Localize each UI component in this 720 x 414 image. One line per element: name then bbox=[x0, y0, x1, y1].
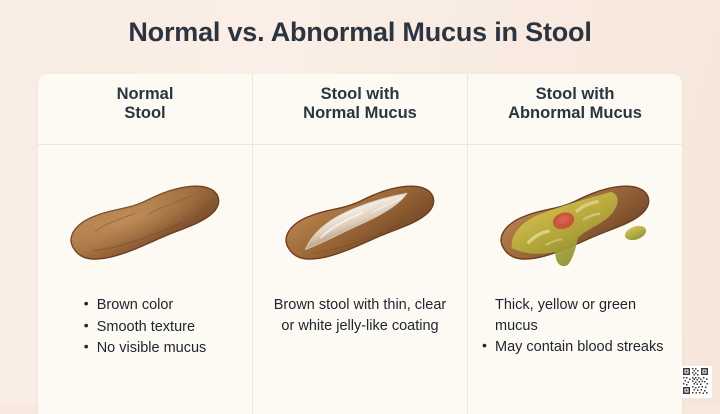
description-abnormal-mucus: Thick, yellow or green mucus May contain… bbox=[468, 295, 682, 359]
list-item: Thick, yellow or green mucus bbox=[482, 295, 668, 336]
column-header-line1: Stool with bbox=[468, 85, 682, 104]
column-header-line1: Stool with bbox=[253, 85, 467, 104]
illustration-normal-stool bbox=[38, 145, 252, 295]
qr-code-icon bbox=[682, 367, 709, 395]
comparison-card: Normal Stool bbox=[38, 74, 682, 414]
illustration-abnormal-mucus bbox=[468, 145, 682, 295]
column-header-line2: Abnormal Mucus bbox=[468, 104, 682, 123]
list-item: Smooth texture bbox=[84, 317, 207, 338]
brown-stool-illustration bbox=[50, 160, 240, 280]
column-header-normal-stool: Normal Stool bbox=[38, 74, 252, 145]
comparison-columns: Normal Stool bbox=[38, 74, 682, 414]
list-item: May contain blood streaks bbox=[482, 337, 668, 358]
column-header-normal-mucus: Stool with Normal Mucus bbox=[253, 74, 467, 145]
column-header-abnormal-mucus: Stool with Abnormal Mucus bbox=[468, 74, 682, 145]
list-item: No visible mucus bbox=[84, 338, 207, 359]
description-normal-stool: Brown color Smooth texture No visible mu… bbox=[38, 295, 252, 360]
column-normal-mucus: Stool with Normal Mucus bbox=[252, 74, 467, 414]
column-header-line2: Stool bbox=[38, 104, 252, 123]
illustration-normal-mucus bbox=[253, 145, 467, 295]
column-normal-stool: Normal Stool bbox=[38, 74, 252, 414]
column-header-line1: Normal bbox=[38, 85, 252, 104]
bullet-list-normal-stool: Brown color Smooth texture No visible mu… bbox=[84, 295, 207, 360]
description-text: Brown stool with thin, clear or white je… bbox=[267, 295, 453, 336]
column-header-line2: Normal Mucus bbox=[253, 104, 467, 123]
page-title: Normal vs. Abnormal Mucus in Stool bbox=[0, 17, 720, 48]
brown-stool-with-clear-mucus-illustration bbox=[265, 160, 455, 280]
brown-stool-with-yellow-green-mucus-illustration bbox=[480, 160, 670, 280]
description-normal-mucus: Brown stool with thin, clear or white je… bbox=[253, 295, 467, 336]
bullet-list-abnormal-mucus: Thick, yellow or green mucus May contain… bbox=[482, 295, 668, 359]
qr-code[interactable] bbox=[681, 366, 712, 398]
list-item: Brown color bbox=[84, 295, 207, 316]
column-abnormal-mucus: Stool with Abnormal Mucus bbox=[467, 74, 682, 414]
